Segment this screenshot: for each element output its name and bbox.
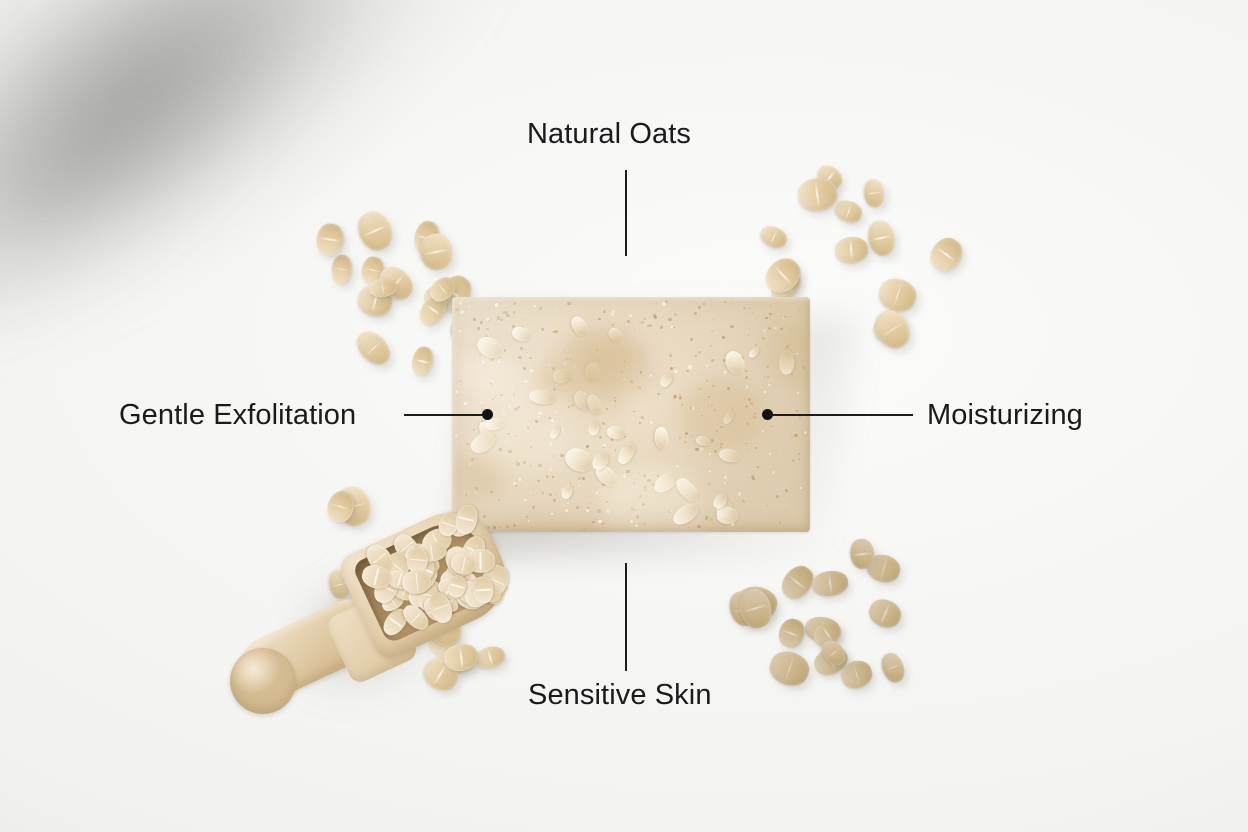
annotation-label-sensitive-skin: Sensitive Skin xyxy=(528,681,712,710)
annotation-label-gentle-exfolitation: Gentle Exfolitation xyxy=(119,401,356,430)
leader-line-sensitive-skin xyxy=(625,563,627,671)
leader-line-gentle-exfolitation xyxy=(404,414,489,416)
leader-dot-gentle-exfolitation xyxy=(482,409,493,420)
leader-line-natural-oats xyxy=(625,170,627,256)
annotation-label-natural-oats: Natural Oats xyxy=(527,120,691,149)
annotation-label-moisturizing: Moisturizing xyxy=(927,401,1083,430)
leader-line-moisturizing xyxy=(770,414,913,416)
product-annotation-scene: Natural Oats Gentle Exfolitation Moistur… xyxy=(0,0,1248,832)
